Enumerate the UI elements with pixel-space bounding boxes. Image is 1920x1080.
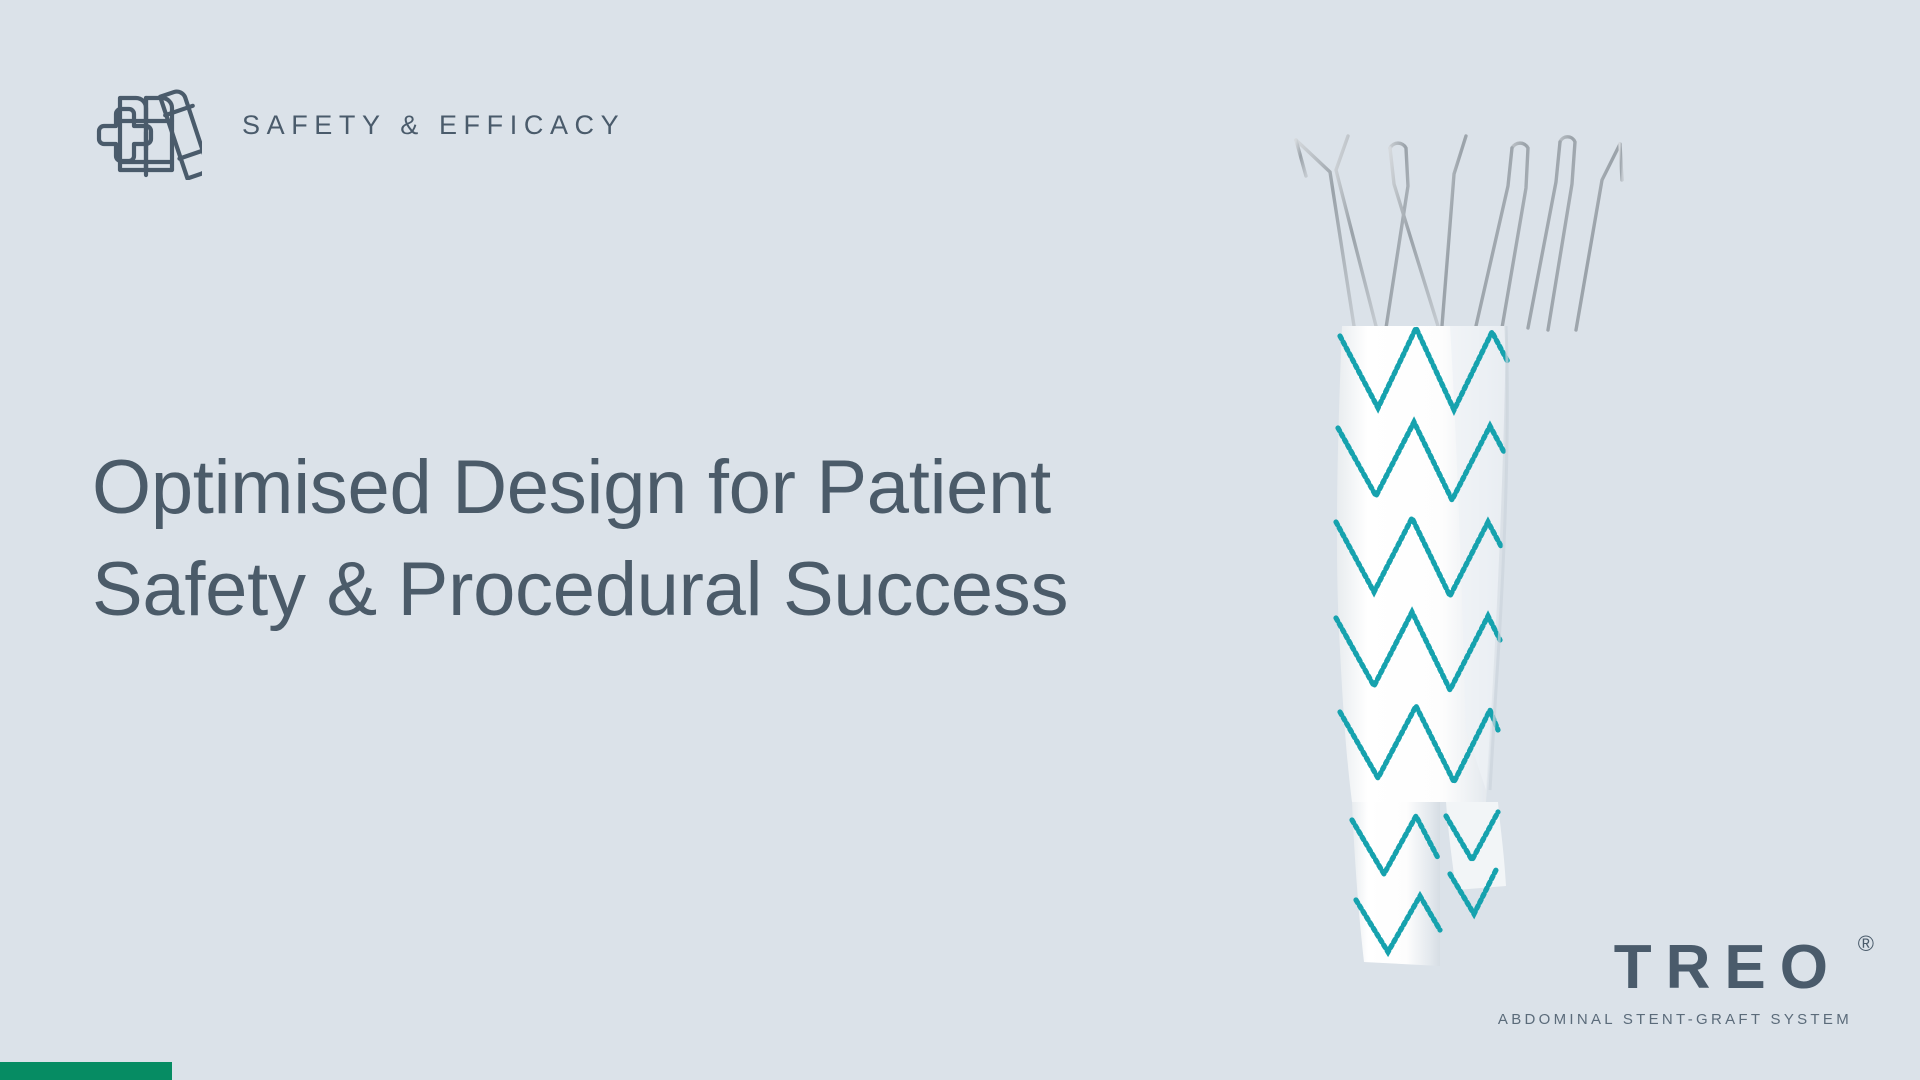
abdominal-stent-graft-illustration: .suture { fill:none; stroke:#16a2ae; str… bbox=[1290, 130, 1630, 990]
slide-progress-track bbox=[0, 1062, 1920, 1080]
page-title-line-1: Optimised Design for Patient bbox=[92, 437, 1272, 539]
treo-wordmark-text: TREO bbox=[1614, 933, 1842, 1002]
medical-books-icon bbox=[90, 70, 202, 180]
slide-canvas: SAFETY & EFFICACY Optimised Design for P… bbox=[0, 0, 1920, 1080]
brand-lockup: TREO ® ABDOMINAL STENT-GRAFT SYSTEM bbox=[1498, 937, 1852, 1028]
eyebrow-section: SAFETY & EFFICACY bbox=[90, 70, 625, 180]
slide-progress-fill bbox=[0, 1062, 172, 1080]
registered-trademark-icon: ® bbox=[1858, 933, 1874, 955]
treo-wordmark: TREO ® bbox=[1614, 937, 1852, 999]
brand-tagline: ABDOMINAL STENT-GRAFT SYSTEM bbox=[1498, 1011, 1852, 1028]
page-title: Optimised Design for Patient Safety & Pr… bbox=[92, 437, 1272, 641]
eyebrow-label: SAFETY & EFFICACY bbox=[242, 110, 625, 141]
page-title-line-2: Safety & Procedural Success bbox=[92, 539, 1272, 641]
